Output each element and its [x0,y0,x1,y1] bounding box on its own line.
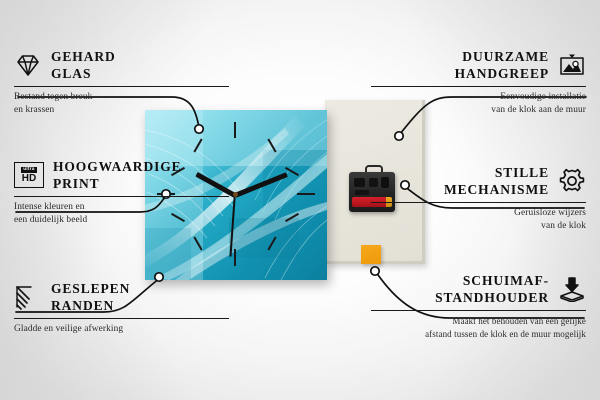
feature-title-line2: HANDGREEP [455,65,549,82]
feature-subtitle: Gladde en veilige afwerking [14,323,229,336]
bevelled-edges-icon [14,284,42,310]
connector-dot-duurzame-handgreep [395,132,403,140]
feature-title-line1: STILLE [444,164,549,181]
feature-title-line2: STANDHOUDER [435,289,549,306]
feature-title-line1: DUURZAME [455,48,549,65]
feature-divider [371,86,586,88]
feature-stille-mechanisme: STILLE MECHANISME Geruisloze wijzers van… [371,164,586,234]
ultra-hd-icon: ultra HD [14,162,44,188]
ultra-hd-icon-large-label: HD [22,174,36,184]
feature-title-line2: MECHANISME [444,181,549,198]
infographic-canvas: GEHARD GLAS Bestand tegen breuk en krass… [0,0,600,400]
feature-divider [371,310,586,312]
ultra-hd-icon-small-label: ultra [21,167,36,173]
feature-title-line1: GESLEPEN [51,280,130,297]
feature-title-line2: PRINT [53,175,182,192]
feature-title-line1: GEHARD [51,48,116,65]
feature-divider [14,318,229,320]
feature-subtitle: Bestand tegen breuk en krassen [14,91,229,118]
feature-divider [371,202,586,204]
feature-title-line1: SCHUIMAF- [435,272,549,289]
picture-frame-icon [558,52,586,78]
feature-title-line2: GLAS [51,65,116,82]
feature-subtitle: Geruisloze wijzers van de klok [371,207,586,234]
feature-subtitle: Maakt het behouden van een gelijke afsta… [371,315,586,341]
feature-hoogwaardige-print: ultra HD HOOGWAARDIGE PRINT Intense kleu… [14,158,229,228]
feature-divider [14,86,229,88]
gear-icon [558,168,586,194]
feature-subtitle: Eenvoudige installatie van de klok aan d… [371,91,586,118]
feature-title-line2: RANDEN [51,297,130,314]
feature-duurzame-handgreep: DUURZAME HANDGREEP Eenvoudige installati… [371,48,586,118]
feature-geslepen-randen: GESLEPEN RANDEN Gladde en veilige afwerk… [14,280,229,336]
connector-dot-gehard-glas [195,125,203,133]
feature-schuimafstandhouder: SCHUIMAF- STANDHOUDER Maakt het behouden… [371,272,586,341]
press-stamp-icon [558,276,586,302]
feature-gehard-glas: GEHARD GLAS Bestand tegen breuk en krass… [14,48,229,118]
feature-title-line1: HOOGWAARDIGE [53,158,182,175]
feature-subtitle: Intense kleuren en een duidelijk beeld [14,201,229,228]
feature-divider [14,196,229,198]
diamond-icon [14,52,42,78]
